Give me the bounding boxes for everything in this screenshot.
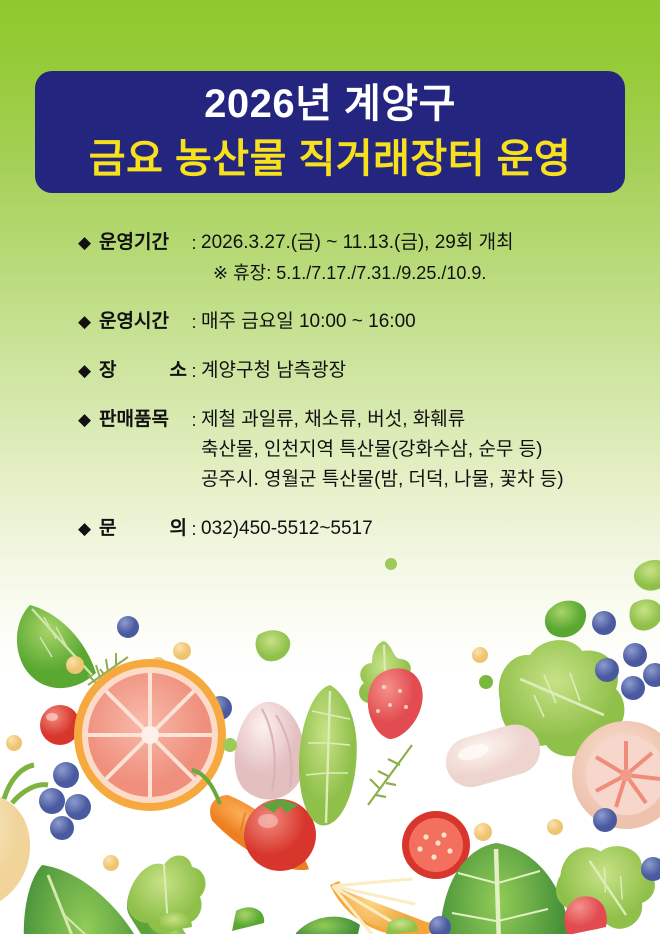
detail-value-goods-line-1: 제철 과일류, 채소류, 버섯, 화훼류 xyxy=(201,405,638,435)
strawberry-icon xyxy=(368,668,423,739)
diamond-bullet-icon: ◆ xyxy=(78,307,99,337)
produce-illustration xyxy=(0,545,660,934)
produce-group xyxy=(0,558,660,934)
chickpea-icon xyxy=(66,656,84,674)
cabbage-leaf-icon xyxy=(294,917,360,934)
basil-leaf-icon xyxy=(545,601,586,638)
diamond-bullet-icon: ◆ xyxy=(78,405,99,435)
detail-row-goods: ◆ 판매품목 : 제철 과일류, 채소류, 버섯, 화훼류 축산물, 인천지역 … xyxy=(78,405,638,495)
cherry-tomato-icon xyxy=(40,705,80,745)
pea-icon xyxy=(479,675,493,689)
detail-colon: : xyxy=(187,356,201,386)
detail-label-contact-char-2: 의 xyxy=(170,514,187,544)
detail-label-location: 장 소 xyxy=(99,356,187,386)
arugula-sprig-icon xyxy=(368,745,412,805)
basil-leaf-icon xyxy=(634,560,660,591)
detail-label-contact-char-1: 문 xyxy=(99,514,116,544)
detail-value-goods-line-3: 공주시. 영월군 특산물(밤, 더덕, 나물, 꽃차 등) xyxy=(201,465,638,495)
rice-cake-icon xyxy=(440,719,546,794)
detail-value-hours: 매주 금요일 10:00 ~ 16:00 xyxy=(201,307,638,337)
chickpea-icon xyxy=(6,735,22,751)
garlic-clove-icon xyxy=(235,702,305,800)
detail-colon: : xyxy=(187,228,201,258)
basil-leaf-icon xyxy=(256,630,291,661)
chickpea-icon xyxy=(103,855,119,871)
detail-row-location: ◆ 장 소 : 계양구청 남측광장 xyxy=(78,356,638,386)
diamond-bullet-icon: ◆ xyxy=(78,356,99,386)
diamond-bullet-icon: ◆ xyxy=(78,514,99,544)
kale-leaf-icon xyxy=(17,605,96,688)
basil-leaf-icon xyxy=(630,599,660,630)
basil-leaf-icon xyxy=(232,907,264,931)
detail-value-contact-phone: 032)450-5512~5517 xyxy=(201,514,638,544)
detail-label-location-char-1: 장 xyxy=(99,356,116,386)
detail-value-period-note: ※ 휴장: 5.1./7.17./7.31./9.25./10.9. xyxy=(213,258,638,288)
detail-colon: : xyxy=(187,405,201,435)
detail-row-contact: ◆ 문 의 : 032)450-5512~5517 xyxy=(78,514,638,544)
detail-row-period: ◆ 운영기간 : 2026.3.27.(금) ~ 11.13.(금), 29회 … xyxy=(78,228,638,288)
arugula-leaf-icon xyxy=(299,685,357,825)
poster-root: 2026년 계양구 금요 농산물 직거래장터 운영 ◆ 운영기간 : 2026.… xyxy=(0,0,660,934)
detail-value-goods: 제철 과일류, 채소류, 버섯, 화훼류 축산물, 인천지역 특산물(강화수삼,… xyxy=(201,405,638,495)
detail-colon: : xyxy=(187,307,201,337)
detail-label-contact: 문 의 xyxy=(99,514,187,544)
tomato-icon xyxy=(244,799,316,871)
pea-icon xyxy=(223,738,237,752)
chickpea-icon xyxy=(472,647,488,663)
detail-value-period: 2026.3.27.(금) ~ 11.13.(금), 29회 개최 ※ 휴장: … xyxy=(201,228,638,288)
detail-label-hours: 운영시간 xyxy=(99,307,187,337)
detail-colon: : xyxy=(187,514,201,544)
chickpea-icon xyxy=(173,642,191,660)
chickpea-icon xyxy=(547,819,563,835)
title-line-2: 금요 농산물 직거래장터 운영 xyxy=(35,132,625,186)
chickpea-icon xyxy=(474,823,492,841)
detail-label-goods: 판매품목 xyxy=(99,405,187,435)
detail-value-goods-line-2: 축산물, 인천지역 특산물(강화수삼, 순무 등) xyxy=(201,435,638,465)
detail-value-period-main: 2026.3.27.(금) ~ 11.13.(금), 29회 개최 xyxy=(201,232,514,253)
title-line-1: 2026년 계양구 xyxy=(35,76,625,132)
grapefruit-slice-icon xyxy=(74,659,226,811)
detail-row-hours: ◆ 운영시간 : 매주 금요일 10:00 ~ 16:00 xyxy=(78,307,638,337)
detail-value-location: 계양구청 남측광장 xyxy=(201,356,638,386)
pea-icon xyxy=(385,558,397,570)
title-banner: 2026년 계양구 금요 농산물 직거래장터 운영 xyxy=(35,71,625,193)
diamond-bullet-icon: ◆ xyxy=(78,228,99,258)
event-details-list: ◆ 운영기간 : 2026.3.27.(금) ~ 11.13.(금), 29회 … xyxy=(78,228,638,544)
detail-label-period: 운영기간 xyxy=(99,228,187,258)
detail-label-location-char-2: 소 xyxy=(170,356,187,386)
